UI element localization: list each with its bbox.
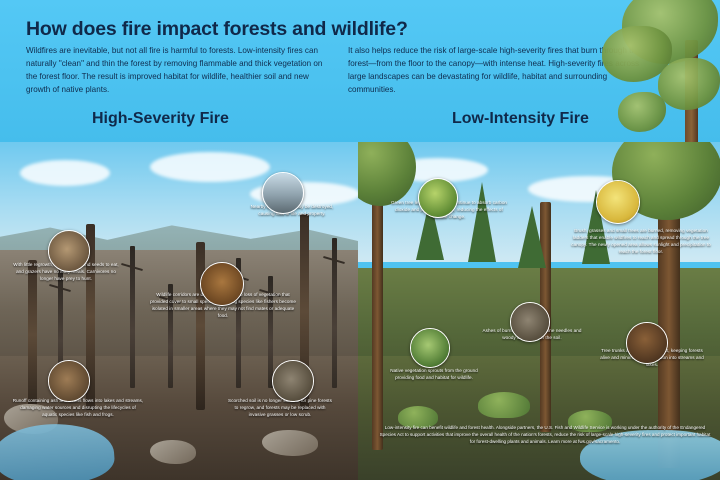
badge-image [273,361,313,401]
page-title: How does fire impact forests and wildlif… [26,18,408,41]
badge-image [201,263,243,305]
rodent-badge-icon [48,230,90,272]
intro-columns: Wildfires are inevitable, but not all fi… [26,44,656,96]
cloud-icon [20,160,110,186]
snag [130,246,135,388]
green-leaf-badge-icon [418,178,458,218]
infographic-page: How does fire impact forests and wildlif… [0,0,720,480]
intro-paragraph-left: Wildfires are inevitable, but not all fi… [26,44,326,96]
tree-bark-badge-icon [626,322,668,364]
conifer-tree [518,206,546,268]
badge-image [627,323,667,363]
burned-house-badge-icon [262,172,304,214]
fisher-badge-icon [200,262,244,306]
section-titles: High-Severity Fire Low-Intensity Fire [0,108,720,142]
sunlight-badge-icon [596,180,640,224]
snag [332,238,337,388]
badge-image [411,329,449,367]
rock [262,430,318,456]
burned-tree [196,242,205,410]
badge-image [49,231,89,271]
badge-image [511,303,549,341]
section-title-low-intensity: Low-Intensity Fire [452,110,589,128]
callout-sprouts: Native vegetation sprouts from the groun… [382,368,486,382]
rock [150,440,196,464]
badge-image [49,361,89,401]
scorched-soil-badge-icon [272,360,314,402]
callout-soil: Scorched soil is no longer suitable for … [228,398,332,419]
otter-badge-icon [48,360,90,402]
sprout-badge-icon [410,328,450,368]
badge-image [597,181,639,223]
badge-image [419,179,457,217]
ash-soil-badge-icon [510,302,550,342]
shrub [478,392,530,418]
callout-runoff: Runoff containing ash and debris flows i… [12,398,144,419]
conifer-tree [468,182,496,262]
section-title-high-severity: High-Severity Fire [92,110,229,128]
foliage-icon [658,58,720,110]
cloud-icon [150,152,270,182]
badge-image [263,173,303,213]
footer-note: Low-intensity fire can benefit wildlife … [378,424,712,445]
callout-ladders: Brush, grasses and small trees are burne… [570,228,712,256]
